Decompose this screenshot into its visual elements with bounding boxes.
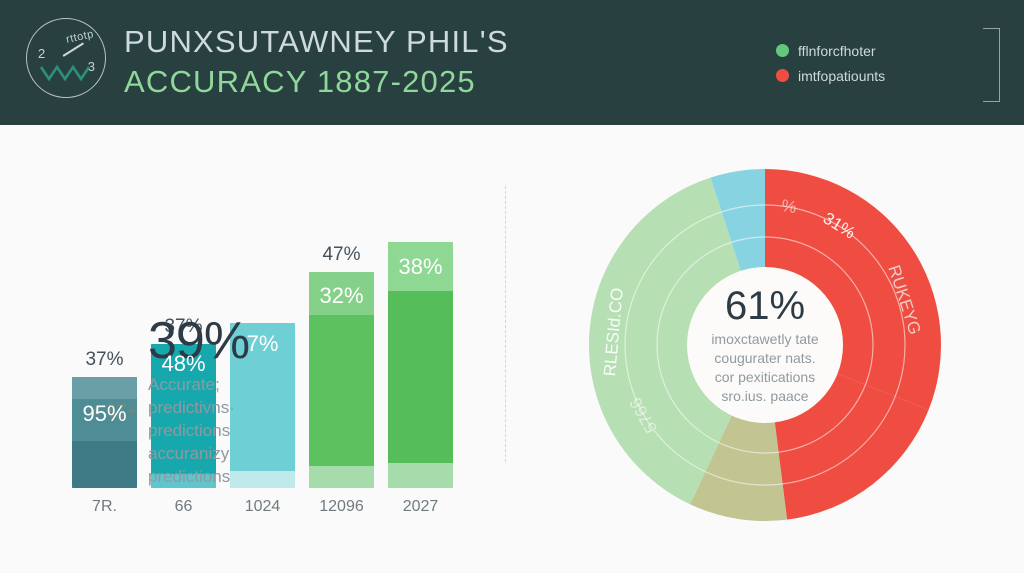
bar-segment-bottom <box>388 463 453 488</box>
bar-inner-label: 7% <box>230 331 295 357</box>
bar-segment-bottom <box>72 441 137 488</box>
legend-label-accurate: fflnforcfhoter <box>798 43 876 59</box>
legend: fflnforcfhoter imtfopatiounts <box>776 38 976 88</box>
legend-item-inaccurate: imtfopatiounts <box>776 63 976 88</box>
title-line-1: PUNXSUTAWNEY PHIL'S <box>124 22 784 62</box>
bar-top-label: 47% <box>309 244 374 266</box>
bar-axis-label: 12096 <box>301 498 382 516</box>
title-line-2: ACCURACY 1887-2025 <box>124 62 784 102</box>
callout-description: Accurate; predictivns· predictions accur… <box>148 373 328 488</box>
bar-segment-top <box>72 377 137 399</box>
bar-stack[interactable]: 95% <box>72 377 137 488</box>
legend-bracket-decoration <box>983 28 1000 102</box>
infographic-root: rttotp 2 3 PUNXSUTAWNEY PHIL'S ACCURACY … <box>0 0 1024 573</box>
bar-axis-label: 7R. <box>64 498 145 516</box>
bar-axis-label: 2027 <box>380 498 461 516</box>
callout-line-2: predictivns· <box>148 396 328 419</box>
bar-inner-label: 32% <box>309 283 374 309</box>
legend-dot-icon-inaccurate <box>776 69 789 82</box>
bar-stack[interactable]: 38% <box>388 242 453 488</box>
bar-chart: 95%37%7R.48%37%667%102432%47%1209638%202… <box>0 125 505 573</box>
callout-line-4: accuranizy <box>148 442 328 465</box>
bar-top-label: 37% <box>72 349 137 371</box>
header-bar: rttotp 2 3 PUNXSUTAWNEY PHIL'S ACCURACY … <box>0 0 1024 125</box>
callout-line-5: predictions <box>148 465 328 488</box>
bar-group[interactable]: 95% <box>72 377 137 488</box>
legend-dot-icon-accurate <box>776 44 789 57</box>
clock-logo-icon: rttotp 2 3 <box>26 18 106 98</box>
bar-group[interactable]: 38% <box>388 242 453 488</box>
page-title: PUNXSUTAWNEY PHIL'S ACCURACY 1887-2025 <box>124 22 784 102</box>
bar-inner-label: 38% <box>388 254 453 280</box>
bar-inner-label: 95% <box>72 401 137 427</box>
legend-item-accurate: fflnforcfhoter <box>776 38 976 63</box>
bar-chart-panel: 95%37%7R.48%37%667%102432%47%1209638%202… <box>0 125 505 573</box>
donut-svg <box>587 167 943 523</box>
callout-line-3: predictions <box>148 419 328 442</box>
donut-chart-panel: 61% imoxctawetly tate cougurater nats. c… <box>505 125 1024 573</box>
donut-chart: 61% imoxctawetly tate cougurater nats. c… <box>587 167 943 523</box>
donut-center-disc <box>687 267 843 423</box>
groundhog-zigzag-icon <box>39 61 93 83</box>
legend-label-inaccurate: imtfopatiounts <box>798 68 885 84</box>
bar-axis-label: 1024 <box>222 498 303 516</box>
bar-inner-label: 48% <box>151 351 216 377</box>
clock-logo-numeral-left: 2 <box>38 46 45 61</box>
bar-axis-label: 66 <box>143 498 224 516</box>
